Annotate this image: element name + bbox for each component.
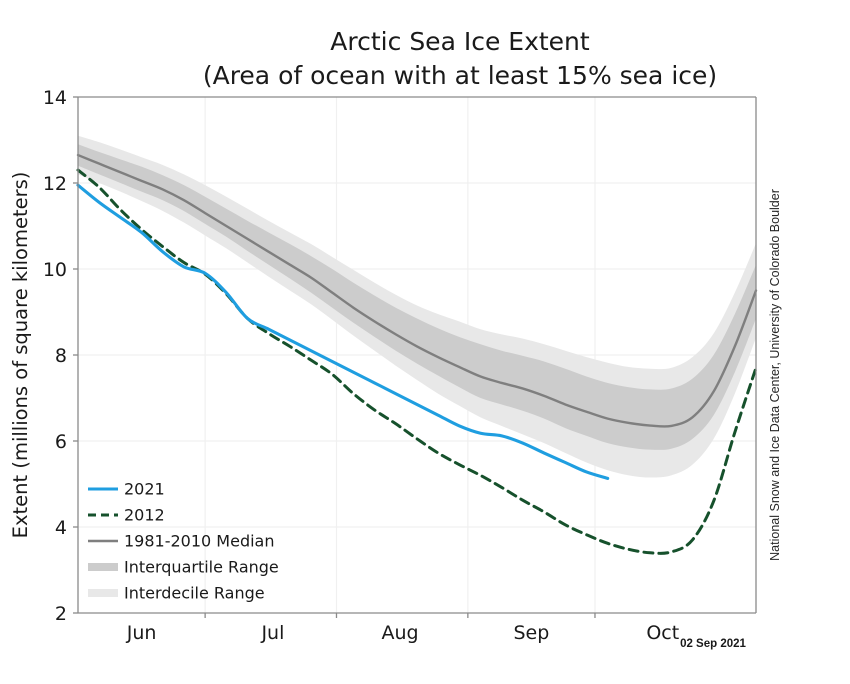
chart-subtitle: (Area of ocean with at least 15% sea ice… <box>203 61 717 90</box>
chart-title: Arctic Sea Ice Extent <box>330 27 590 56</box>
legend-label-interquartile-range: Interquartile Range <box>124 558 279 577</box>
datestamp-label: 02 Sep 2021 <box>680 638 746 650</box>
y-tick-label: 2 <box>55 603 67 625</box>
y-tick-label: 4 <box>55 517 67 539</box>
legend-swatch-interquartile-range <box>88 563 118 571</box>
legend-label-1981-2010-median: 1981-2010 Median <box>124 532 275 551</box>
x-tick-label-jun: Jun <box>126 622 157 644</box>
legend-swatch-interdecile-range <box>88 589 118 597</box>
x-tick-label-sep: Sep <box>514 622 550 644</box>
legend-label-2012: 2012 <box>124 506 165 525</box>
legend-label-interdecile-range: Interdecile Range <box>124 584 265 603</box>
y-tick-label: 6 <box>55 431 67 453</box>
x-tick-label-oct: Oct <box>646 622 679 644</box>
y-tick-label: 14 <box>43 87 67 109</box>
y-tick-label: 10 <box>43 259 67 281</box>
y-axis-label: Extent (millions of square kilometers) <box>9 172 32 539</box>
y-tick-label: 12 <box>43 173 67 195</box>
chart-canvas: Arctic Sea Ice Extent (Area of ocean wit… <box>0 0 850 680</box>
y-tick-label: 8 <box>55 345 67 367</box>
arctic-sea-ice-chart: Arctic Sea Ice Extent (Area of ocean wit… <box>0 0 850 680</box>
credit-label: National Snow and Ice Data Center, Unive… <box>768 189 782 561</box>
x-tick-label-aug: Aug <box>381 622 418 644</box>
legend-label-2021: 2021 <box>124 480 165 499</box>
x-tick-label-jul: Jul <box>260 622 284 644</box>
